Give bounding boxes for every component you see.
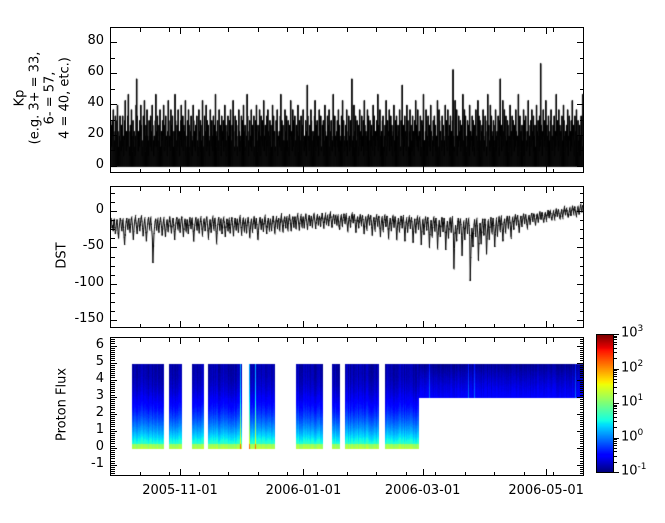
y-axis-tick <box>580 407 584 408</box>
x-axis-tick <box>287 28 288 32</box>
y-axis-tick <box>111 424 115 425</box>
x-axis-tick <box>524 472 525 476</box>
x-axis-tick <box>199 338 200 342</box>
y-axis-tick <box>111 377 115 378</box>
colorbar-minor-tick <box>613 342 617 343</box>
x-axis-tick <box>494 169 495 173</box>
y-axis-tick <box>580 405 584 406</box>
x-axis-tick <box>199 28 200 32</box>
x-axis-tick <box>287 169 288 173</box>
y-axis-tick <box>580 356 584 357</box>
y-axis-tick <box>577 380 583 381</box>
y-axis-tick <box>111 418 115 419</box>
proton-flux-tick-label: 0 <box>60 439 104 454</box>
y-axis-tick <box>580 193 584 194</box>
y-axis-tick <box>111 450 115 451</box>
y-axis-tick <box>111 311 115 312</box>
x-axis-tick <box>228 324 229 328</box>
y-axis-tick <box>111 443 115 444</box>
x-axis-tick <box>435 324 436 328</box>
y-axis-tick <box>111 392 115 393</box>
y-axis-tick <box>111 473 115 474</box>
colorbar-minor-tick <box>613 439 617 440</box>
x-axis-tick <box>169 169 170 173</box>
kp-tick-label: 60 <box>60 64 104 79</box>
y-axis-tick <box>580 369 584 370</box>
x-axis-tick <box>546 187 547 193</box>
y-axis-tick <box>111 456 115 457</box>
y-axis-tick <box>111 367 115 368</box>
y-axis-tick <box>111 401 115 402</box>
y-axis-tick <box>111 414 117 415</box>
y-axis-tick <box>577 465 583 466</box>
y-axis-tick <box>111 390 115 391</box>
y-axis-tick <box>580 437 584 438</box>
x-axis-tick <box>180 469 181 475</box>
x-axis-tick <box>583 338 584 342</box>
y-axis-tick <box>111 422 115 423</box>
y-axis-tick <box>580 302 584 303</box>
y-axis-tick <box>577 73 583 74</box>
y-axis-tick <box>111 369 115 370</box>
y-axis-tick <box>577 320 583 321</box>
x-axis-tick <box>199 169 200 173</box>
x-axis-tick <box>287 472 288 476</box>
colorbar-minor-tick <box>613 382 617 383</box>
x-axis-tick <box>546 338 547 344</box>
y-axis-tick <box>111 380 117 381</box>
y-axis-tick <box>580 441 584 442</box>
x-axis-tick <box>110 187 111 191</box>
x-axis-tick <box>199 472 200 476</box>
x-axis-tick <box>423 321 424 327</box>
x-axis-tick <box>110 338 111 342</box>
y-axis-tick <box>580 293 584 294</box>
colorbar-minor-tick <box>613 352 617 353</box>
colorbar-minor-tick <box>613 374 617 375</box>
y-axis-tick <box>580 367 584 368</box>
x-axis-tick <box>553 338 554 342</box>
colorbar-minor-tick <box>613 406 617 407</box>
colorbar-minor-tick <box>613 344 617 345</box>
x-axis-tick <box>258 472 259 476</box>
colorbar-minor-tick <box>613 336 617 337</box>
y-axis-tick <box>111 89 115 90</box>
x-axis-tick <box>180 187 181 193</box>
x-axis-tick <box>546 28 547 34</box>
x-axis-tick <box>376 169 377 173</box>
y-axis-tick <box>580 371 584 372</box>
colorbar-minor-tick <box>613 411 617 412</box>
colorbar-minor-tick <box>613 443 617 444</box>
x-axis-tick <box>465 187 466 191</box>
dst-tick-label: -100 <box>60 275 104 290</box>
y-axis-tick <box>580 120 584 121</box>
y-axis-tick <box>580 388 584 389</box>
y-axis-tick <box>111 104 117 105</box>
x-axis-tick <box>140 472 141 476</box>
y-axis-tick <box>111 441 115 442</box>
x-axis-tick <box>347 169 348 173</box>
y-axis-tick <box>111 463 115 464</box>
colorbar-tick <box>613 334 619 335</box>
x-axis-tick <box>423 187 424 193</box>
kp-tick-label: 0 <box>60 157 104 172</box>
x-axis-tick <box>494 187 495 191</box>
x-axis-tick <box>583 187 584 191</box>
y-axis-tick <box>580 257 584 258</box>
x-axis-tick <box>258 324 259 328</box>
y-axis-tick <box>111 120 115 121</box>
x-axis-tick <box>347 187 348 191</box>
dst-tick-label: -50 <box>60 238 104 253</box>
y-axis-tick <box>111 266 115 267</box>
x-axis-tick <box>465 28 466 32</box>
y-axis-tick <box>111 439 115 440</box>
y-axis-tick <box>111 382 115 383</box>
y-axis-tick <box>111 416 115 417</box>
y-axis-tick <box>580 392 584 393</box>
x-axis-tick <box>435 472 436 476</box>
x-axis-tick <box>303 166 304 172</box>
x-axis-tick <box>169 324 170 328</box>
y-axis-tick <box>111 465 117 466</box>
x-axis-tick <box>110 28 111 32</box>
x-axis-tick <box>228 472 229 476</box>
x-axis-tick <box>169 187 170 191</box>
y-axis-tick <box>111 352 115 353</box>
y-axis-tick <box>111 409 115 410</box>
y-axis-tick <box>111 452 115 453</box>
y-axis-tick <box>111 412 115 413</box>
y-axis-tick <box>577 166 583 167</box>
y-axis-tick <box>111 229 115 230</box>
y-axis-tick <box>111 371 115 372</box>
y-axis-tick <box>111 388 115 389</box>
y-axis-tick <box>580 350 584 351</box>
proton-flux-plot-panel <box>110 337 584 476</box>
y-axis-tick <box>111 448 117 449</box>
x-axis-tick <box>406 169 407 173</box>
y-axis-tick <box>580 454 584 455</box>
y-axis-tick <box>111 461 115 462</box>
y-axis-tick <box>577 104 583 105</box>
x-axis-tick <box>435 187 436 191</box>
colorbar-tick-label: 100 <box>621 428 643 444</box>
x-axis-tick <box>553 169 554 173</box>
x-axis-tick <box>180 321 181 327</box>
x-axis-tick <box>303 338 304 344</box>
x-axis-tick <box>169 28 170 32</box>
y-axis-tick <box>111 275 115 276</box>
colorbar-minor-tick <box>613 337 617 338</box>
y-axis-tick <box>580 311 584 312</box>
y-axis-tick <box>580 469 584 470</box>
x-axis-tick <box>406 28 407 32</box>
x-axis-tick <box>465 324 466 328</box>
x-axis-tick <box>303 187 304 193</box>
y-axis-tick <box>111 433 115 434</box>
x-axis-tick <box>303 321 304 327</box>
y-axis-tick <box>111 247 117 248</box>
colorbar-tick-label: 10-1 <box>621 462 647 478</box>
y-axis-tick <box>111 395 115 396</box>
kp-series-canvas <box>111 28 584 173</box>
y-axis-tick <box>580 452 584 453</box>
y-axis-tick <box>111 405 115 406</box>
x-axis-tick <box>553 324 554 328</box>
proton-flux-tick-label: 4 <box>60 371 104 386</box>
y-axis-tick <box>577 397 583 398</box>
x-axis-tick <box>287 338 288 342</box>
y-axis-tick <box>580 89 584 90</box>
colorbar-minor-tick <box>613 417 617 418</box>
x-axis-tick <box>583 324 584 328</box>
y-axis-tick <box>111 360 115 361</box>
x-axis-tick <box>435 28 436 32</box>
colorbar-gradient <box>597 335 613 472</box>
proton-flux-tick-label: 1 <box>60 422 104 437</box>
colorbar-minor-tick <box>613 408 617 409</box>
y-axis-tick <box>580 358 584 359</box>
proton-flux-tick-label: 3 <box>60 388 104 403</box>
colorbar-minor-tick <box>613 421 617 422</box>
y-axis-tick <box>111 356 115 357</box>
x-axis-tick <box>524 187 525 191</box>
y-axis-tick <box>580 343 584 344</box>
y-axis-tick <box>580 458 584 459</box>
y-axis-tick <box>111 354 115 355</box>
x-axis-tick <box>546 166 547 172</box>
x-axis-tick <box>524 324 525 328</box>
colorbar-minor-tick <box>613 393 617 394</box>
x-axis-tick <box>546 321 547 327</box>
x-axis-tick <box>199 324 200 328</box>
y-axis-tick <box>580 229 584 230</box>
x-axis-tick <box>376 324 377 328</box>
colorbar-minor-tick <box>613 387 617 388</box>
y-axis-tick <box>577 211 583 212</box>
x-axis-tick <box>110 169 111 173</box>
x-axis-tick <box>317 472 318 476</box>
x-axis-tick <box>140 169 141 173</box>
x-axis-tick <box>376 28 377 32</box>
x-axis-tick <box>199 187 200 191</box>
x-axis-tick <box>376 472 377 476</box>
x-axis-tick <box>465 472 466 476</box>
y-axis-tick <box>111 320 117 321</box>
y-axis-tick <box>580 360 584 361</box>
y-axis-tick <box>111 407 115 408</box>
x-axis-tick <box>258 338 259 342</box>
x-axis-tick <box>317 28 318 32</box>
colorbar-minor-tick <box>613 413 617 414</box>
x-axis-tick <box>465 169 466 173</box>
proton-flux-tick-label: 2 <box>60 405 104 420</box>
y-axis-tick <box>111 58 115 59</box>
x-axis-tick <box>406 324 407 328</box>
y-axis-tick <box>580 461 584 462</box>
x-axis-tick <box>287 324 288 328</box>
y-axis-tick <box>580 401 584 402</box>
y-axis-tick <box>111 150 115 151</box>
y-axis-tick <box>580 424 584 425</box>
x-axis-tick <box>423 469 424 475</box>
x-axis-tick <box>406 338 407 342</box>
y-axis-tick <box>580 275 584 276</box>
y-axis-tick <box>111 202 115 203</box>
x-axis-tick <box>317 338 318 342</box>
y-axis-tick <box>580 418 584 419</box>
dst-tick-label: -150 <box>60 311 104 326</box>
x-axis-tick <box>228 28 229 32</box>
colorbar-tick-label: 103 <box>621 324 643 340</box>
y-axis-tick <box>111 471 115 472</box>
colorbar-minor-tick <box>613 370 617 371</box>
colorbar-minor-tick <box>613 379 617 380</box>
x-axis-tick <box>317 324 318 328</box>
y-axis-tick <box>577 448 583 449</box>
y-axis-tick <box>580 463 584 464</box>
x-axis-tick <box>524 28 525 32</box>
y-axis-tick <box>111 302 115 303</box>
x-axis-tick <box>546 469 547 475</box>
y-axis-tick <box>111 458 115 459</box>
y-axis-tick <box>580 375 584 376</box>
x-axis-tick-label: 2005-11-01 <box>130 483 230 498</box>
y-axis-tick <box>580 238 584 239</box>
y-axis-tick <box>577 135 583 136</box>
x-axis-tick <box>583 472 584 476</box>
y-axis-tick <box>111 397 117 398</box>
y-axis-tick <box>580 384 584 385</box>
y-axis-tick <box>111 166 117 167</box>
y-axis-tick <box>580 220 584 221</box>
y-axis-tick <box>111 73 117 74</box>
y-axis-tick <box>580 409 584 410</box>
proton-flux-tick-label: 5 <box>60 354 104 369</box>
x-axis-tick <box>347 28 348 32</box>
x-axis-tick <box>423 338 424 344</box>
y-axis-tick <box>111 358 115 359</box>
proton-flux-tick-label: 6 <box>60 337 104 352</box>
y-axis-tick <box>111 363 117 364</box>
x-axis-tick <box>494 472 495 476</box>
x-axis-tick <box>553 472 554 476</box>
colorbar-minor-tick <box>613 358 617 359</box>
y-axis-tick <box>580 439 584 440</box>
y-axis-tick <box>111 284 117 285</box>
y-axis-tick <box>580 450 584 451</box>
y-axis-tick <box>580 467 584 468</box>
y-axis-tick <box>111 435 115 436</box>
colorbar-minor-tick <box>613 427 617 428</box>
kp-tick-label: 80 <box>60 33 104 48</box>
y-axis-tick <box>580 390 584 391</box>
y-axis-tick <box>580 420 584 421</box>
y-axis-tick <box>111 135 117 136</box>
x-axis-tick <box>258 187 259 191</box>
y-axis-tick <box>111 467 115 468</box>
x-axis-tick <box>180 166 181 172</box>
kp-tick-label: 40 <box>60 95 104 110</box>
colorbar-minor-tick <box>613 462 617 463</box>
y-axis-tick <box>577 414 583 415</box>
x-axis-tick <box>494 324 495 328</box>
x-axis-tick <box>228 187 229 191</box>
y-axis-tick <box>577 431 583 432</box>
kp-tick-label: 20 <box>60 126 104 141</box>
x-axis-tick <box>258 28 259 32</box>
colorbar-minor-tick <box>613 339 617 340</box>
colorbar-minor-tick <box>613 405 617 406</box>
y-axis-tick <box>580 433 584 434</box>
x-axis-tick <box>583 169 584 173</box>
y-axis-tick <box>577 42 583 43</box>
colorbar-tick <box>613 472 619 473</box>
x-axis-tick <box>287 187 288 191</box>
y-axis-tick <box>580 456 584 457</box>
x-axis-tick <box>347 338 348 342</box>
y-axis-tick <box>111 386 115 387</box>
x-axis-tick <box>553 28 554 32</box>
colorbar-minor-tick <box>613 372 617 373</box>
y-axis-tick <box>577 346 583 347</box>
y-axis-tick <box>580 403 584 404</box>
y-axis-tick <box>111 426 115 427</box>
x-axis-tick <box>435 338 436 342</box>
y-axis-tick <box>580 202 584 203</box>
colorbar <box>596 334 614 473</box>
x-axis-tick <box>140 338 141 342</box>
y-axis-tick <box>580 365 584 366</box>
y-axis-tick <box>580 352 584 353</box>
kp-plot-panel <box>110 27 584 173</box>
x-axis-tick <box>465 338 466 342</box>
x-axis-tick <box>317 169 318 173</box>
y-axis-tick <box>111 375 115 376</box>
x-axis-tick <box>228 338 229 342</box>
x-axis-tick <box>524 338 525 342</box>
x-axis-tick <box>110 472 111 476</box>
y-axis-tick <box>580 435 584 436</box>
x-axis-tick-label: 2006-03-01 <box>373 483 473 498</box>
y-axis-tick <box>111 365 115 366</box>
y-axis-tick <box>111 348 115 349</box>
dst-tick-label: 0 <box>60 202 104 217</box>
y-axis-tick <box>111 293 115 294</box>
y-axis-tick <box>111 343 115 344</box>
y-axis-tick <box>580 399 584 400</box>
kp-axis-label-line: 6- = 57, <box>42 5 57 190</box>
y-axis-tick <box>580 386 584 387</box>
y-axis-tick <box>111 341 115 342</box>
y-axis-tick <box>111 257 115 258</box>
y-axis-tick <box>111 454 115 455</box>
colorbar-minor-tick <box>613 441 617 442</box>
dst-plot-panel <box>110 186 584 328</box>
y-axis-tick <box>580 412 584 413</box>
kp-axis-label-line: Kp <box>12 5 27 190</box>
colorbar-minor-tick <box>613 376 617 377</box>
y-axis-tick <box>580 426 584 427</box>
colorbar-tick-label: 102 <box>621 359 643 375</box>
x-axis-tick <box>406 187 407 191</box>
y-axis-tick <box>580 150 584 151</box>
x-axis-tick <box>258 169 259 173</box>
proton-flux-tick-label: -1 <box>60 456 104 471</box>
y-axis-tick <box>111 42 117 43</box>
